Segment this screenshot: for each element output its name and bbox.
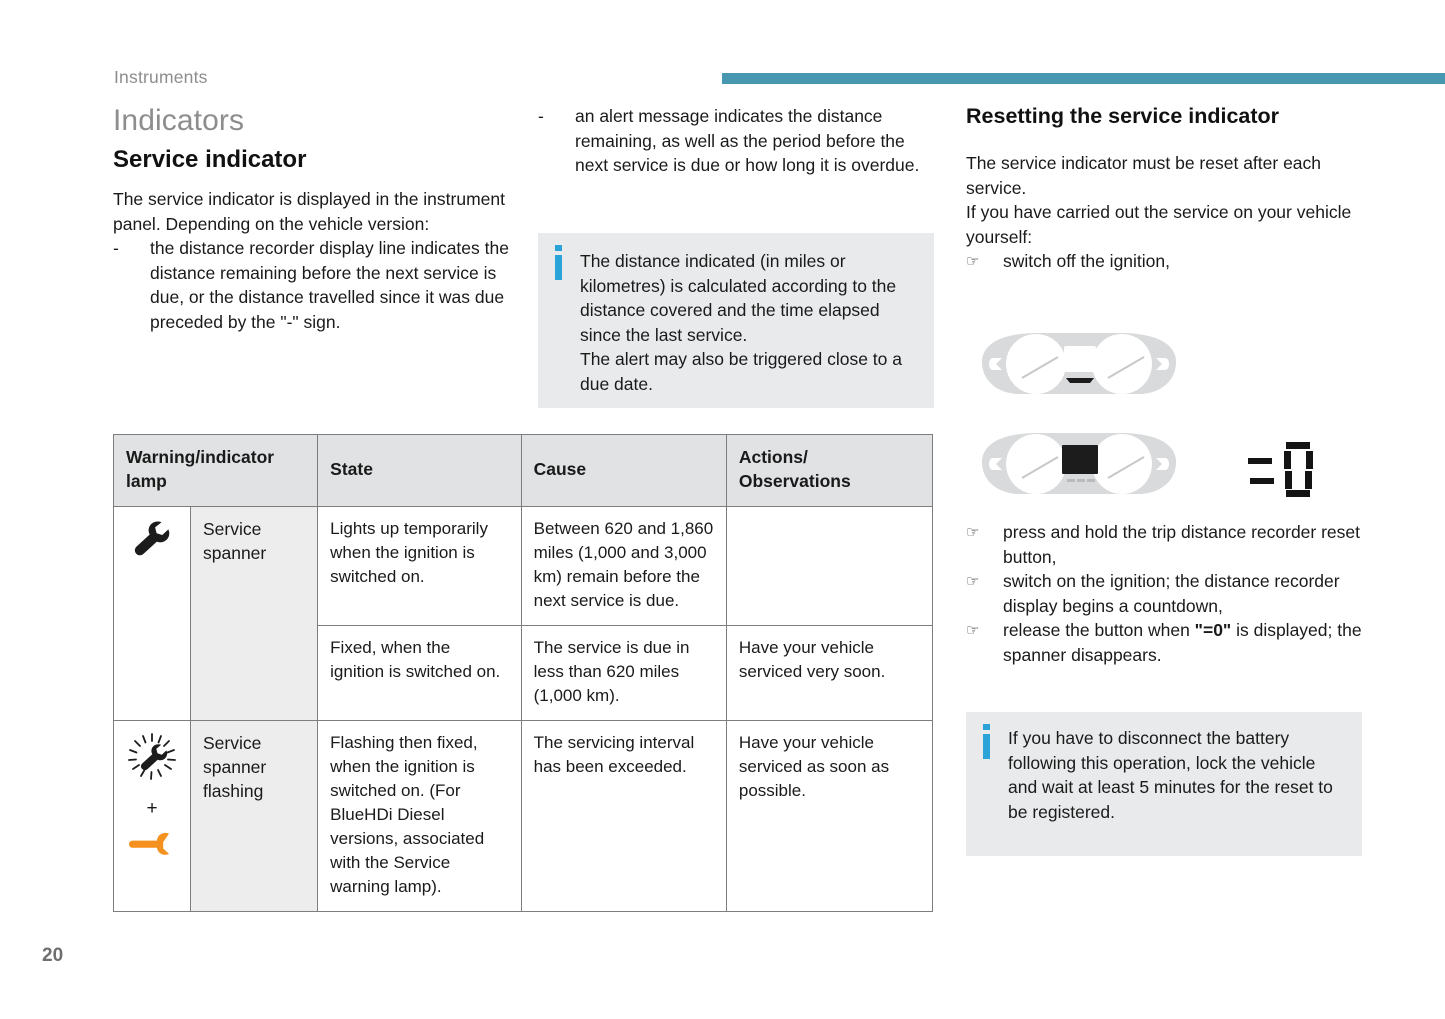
list-item: - an alert message indicates the distanc… [538,104,938,178]
pointing-hand-icon: ☞ [966,250,996,275]
info-box-paragraph: If you have to disconnect the battery fo… [1008,726,1344,824]
plus-sign: + [126,797,178,821]
cell-cause: Between 620 and 1,860 miles (1,000 and 3… [521,507,726,626]
reset-intro-line-1: The service indicator must be reset afte… [966,151,1362,200]
info-box-battery: If you have to disconnect the battery fo… [966,712,1362,856]
left-bullet-list: - the distance recorder display line ind… [113,236,523,334]
pointing-hand-icon: ☞ [966,570,996,595]
list-item: ☞ press and hold the trip distance recor… [966,520,1362,569]
instrument-cluster-dark-display-icon [974,430,1184,502]
middle-column: - an alert message indicates the distanc… [538,104,938,178]
reset-intro-line-2: If you have carried out the service on y… [966,200,1362,249]
pointing-hand-icon: ☞ [966,521,996,546]
reset-section-title: Resetting the service indicator [966,104,1362,129]
warning-lamp-table: Warning/indicator lamp State Cause Actio… [113,434,933,912]
spanner-orange-icon [127,831,177,855]
cell-cause: The servicing interval has been exceeded… [521,721,726,912]
cell-icon-spanner [114,507,191,721]
list-item: ☞ switch on the ignition; the distance r… [966,569,1362,618]
info-icon-bar [555,255,562,280]
list-item-label-before: release the button when [1003,620,1195,640]
header-accent-rule [722,73,1445,84]
dash-marker: - [113,236,143,261]
cell-icon-spanner-flashing: + [114,721,191,912]
cell-actions: Have your vehicle serviced very soon. [726,626,932,721]
cell-actions: Have your vehicle serviced as soon as po… [726,721,932,912]
cell-actions [726,507,932,626]
instrument-cluster-white-display-icon [974,330,1184,402]
table-head: Warning/indicator lamp State Cause Actio… [114,435,933,507]
info-box-distance: The distance indicated (in miles or kilo… [538,233,934,408]
cell-state: Flashing then fixed, when the ignition i… [318,721,521,912]
list-item-label: press and hold the trip distance recorde… [1003,522,1360,567]
list-item-label: switch off the ignition, [1003,251,1170,271]
list-item-label: an alert message indicates the distance … [575,106,919,175]
info-box-paragraph: The distance indicated (in miles or kilo… [580,249,916,347]
cell-cause: The service is due in less than 620 mile… [521,626,726,721]
table-body: Service spanner Lights up temporarily wh… [114,507,933,912]
list-item-label: switch on the ignition; the distance rec… [1003,571,1340,616]
reset-steps-rest-wrapper: ☞ press and hold the trip distance recor… [966,520,1362,667]
column-header-cause: Cause [521,435,726,507]
breadcrumb: Instruments [114,67,208,88]
cell-lamp-name: Service spanner [191,507,318,721]
table-header-row: Warning/indicator lamp State Cause Actio… [114,435,933,507]
right-column: Resetting the service indicator The serv… [966,104,1362,274]
spanner-icon [131,519,173,559]
list-item-label: the distance recorder display line indic… [150,238,509,332]
section-subtitle: Service indicator [113,146,523,174]
info-icon-bar [983,734,990,759]
list-item-label-bold: "=0" [1195,620,1232,640]
intro-paragraph: The service indicator is displayed in th… [113,187,523,236]
page-title: Indicators [113,104,523,138]
cell-state: Fixed, when the ignition is switched on. [318,626,521,721]
seven-segment-equals-zero-icon [1248,440,1318,502]
column-header-actions: Actions/ Observations [726,435,932,507]
cell-state: Lights up temporarily when the ignition … [318,507,521,626]
info-icon-dot [983,724,990,730]
middle-bullet-list: - an alert message indicates the distanc… [538,104,938,178]
cell-lamp-name: Service spanner flashing [191,721,318,912]
cluster-figure: /000 [966,330,1362,510]
column-header-warning-lamp: Warning/indicator lamp [114,435,318,507]
pointing-hand-icon: ☞ [966,619,996,644]
info-icon-dot [555,245,562,251]
info-box-paragraph: The alert may also be triggered close to… [580,347,916,396]
left-column: Indicators Service indicator The service… [113,104,523,334]
dash-marker: - [538,104,568,129]
reset-steps-first: ☞ switch off the ignition, [966,249,1362,274]
table-row: + Service spanner flashing Flashing then… [114,721,933,912]
list-item: - the distance recorder display line ind… [113,236,523,334]
reset-steps-rest: ☞ press and hold the trip distance recor… [966,520,1362,667]
spanner-flashing-icon [126,733,178,783]
page-number: 20 [42,945,63,967]
list-item: ☞ switch off the ignition, [966,249,1362,274]
list-item: ☞ release the button when "=0" is displa… [966,618,1362,667]
table-row: Service spanner Lights up temporarily wh… [114,507,933,626]
column-header-state: State [318,435,521,507]
